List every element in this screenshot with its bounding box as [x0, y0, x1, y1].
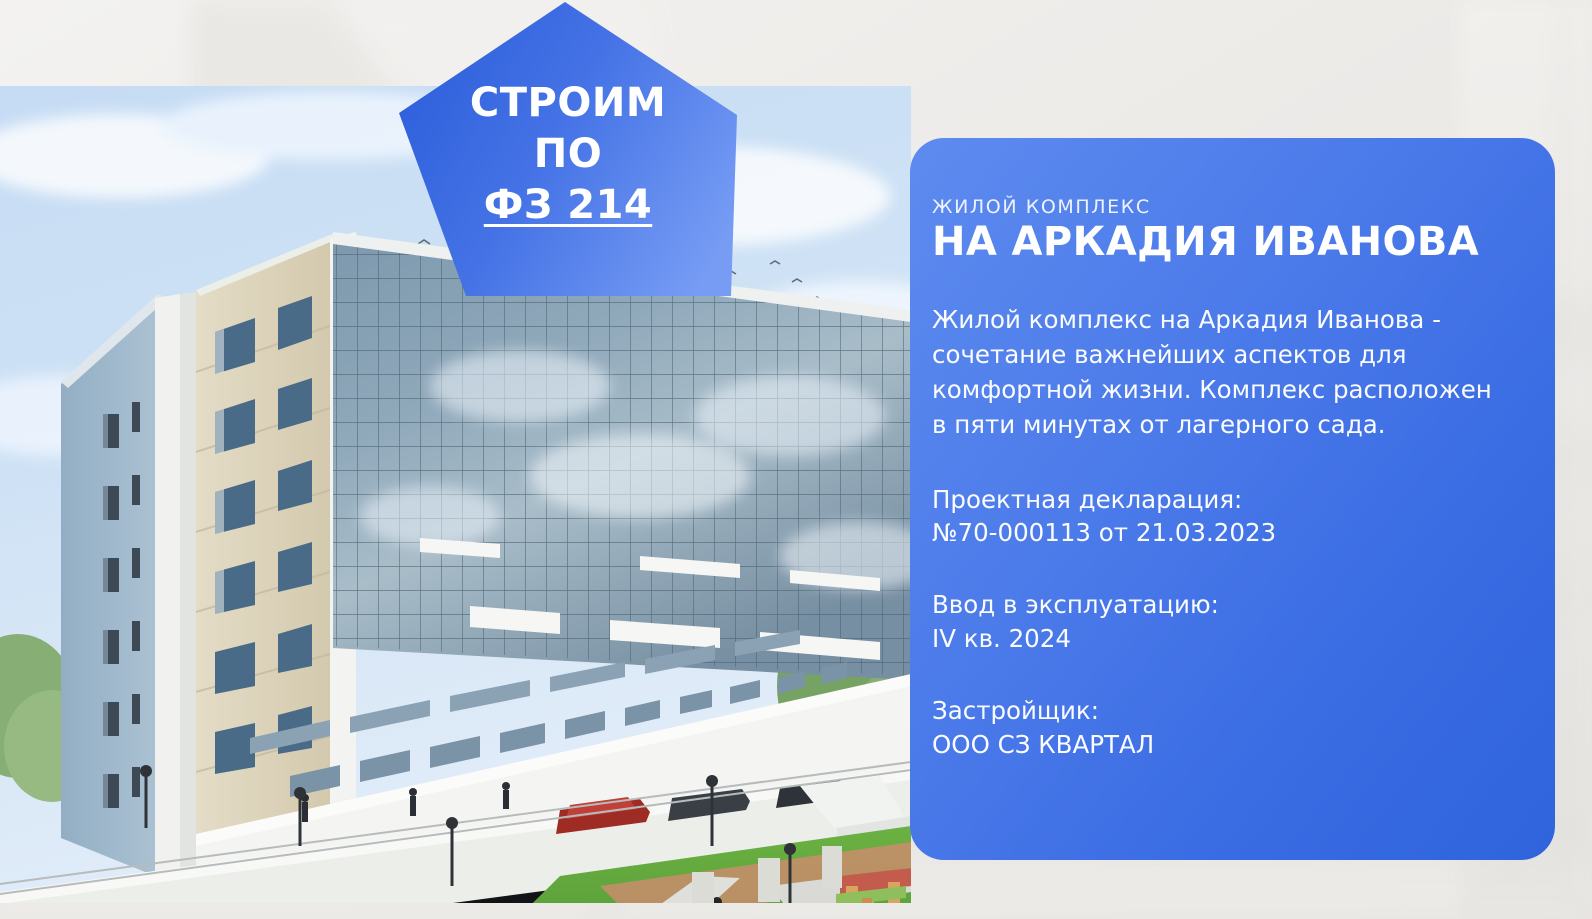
panel-description: Жилой комплекс на Аркадия Иванова - соче… [932, 303, 1512, 442]
panel-eyebrow: ЖИЛОЙ КОМПЛЕКС [932, 196, 1512, 218]
panel-title: НА АРКАДИЯ ИВАНОВА [932, 221, 1512, 263]
pentagon-shape [398, 0, 738, 300]
field-commissioning: Ввод в эксплуатацию: IV кв. 2024 [932, 588, 1512, 656]
field-declaration-value: №70-000113 от 21.03.2023 [932, 516, 1512, 550]
field-declaration-label: Проектная декларация: [932, 485, 1242, 514]
field-commissioning-value: IV кв. 2024 [932, 622, 1512, 656]
field-developer: Застройщик: ООО СЗ КВАРТАЛ [932, 694, 1512, 762]
field-developer-value: ООО СЗ КВАРТАЛ [932, 728, 1512, 762]
field-declaration: Проектная декларация: №70-000113 от 21.0… [932, 483, 1512, 551]
field-developer-label: Застройщик: [932, 696, 1099, 725]
fz214-badge: СТРОИМ ПО ФЗ 214 [398, 0, 738, 300]
project-info-panel: ЖИЛОЙ КОМПЛЕКС НА АРКАДИЯ ИВАНОВА Жилой … [910, 138, 1555, 860]
field-commissioning-label: Ввод в эксплуатацию: [932, 590, 1219, 619]
